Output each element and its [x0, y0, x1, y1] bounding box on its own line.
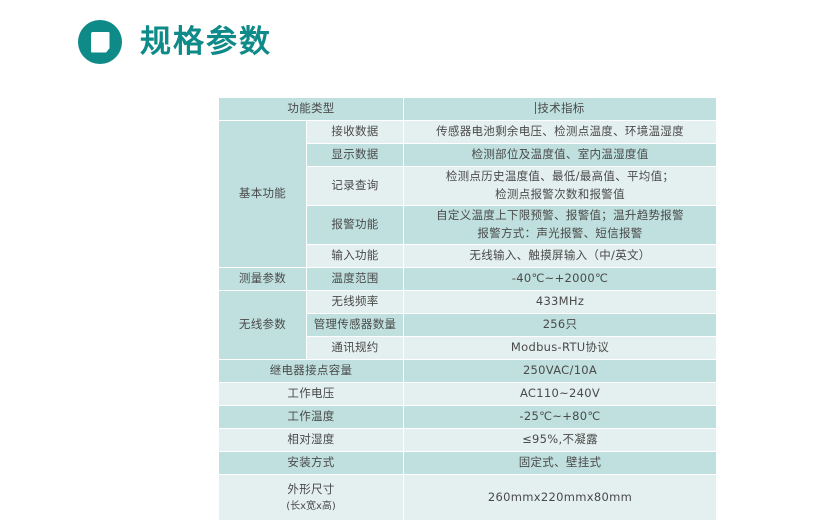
group-label-measure: 测量参数 — [219, 268, 307, 290]
row-value: 检测部位及温度值、室内温湿度值 — [404, 144, 716, 166]
row-item: 通讯规约 — [307, 337, 404, 359]
row-item: 安装方式 — [219, 452, 404, 474]
row-value: 自定义温度上下限预警、报警值；温升趋势报警 报警方式：声光报警、短信报警 — [404, 206, 716, 244]
row-item: 显示数据 — [307, 144, 404, 166]
row-value: 无线输入、触摸屏输入（中/英文） — [404, 245, 716, 267]
row-value: -25℃~+80℃ — [404, 406, 716, 428]
row-item: 相对湿度 — [219, 429, 404, 451]
row-value-line2: 报警方式：声光报警、短信报警 — [477, 226, 642, 240]
column-header-category: 功能类型 — [219, 98, 404, 120]
row-value-line2: 检测点报警次数和报警值 — [495, 187, 625, 201]
row-item: 工作温度 — [219, 406, 404, 428]
group-label-basic: 基本功能 — [219, 121, 307, 267]
row-value: -40℃~+2000℃ — [404, 268, 716, 290]
row-item: 记录查询 — [307, 167, 404, 205]
rounded-square-badge-icon — [78, 20, 122, 64]
page-title: 规格参数 — [140, 27, 272, 58]
row-item-label: 外形尺寸 — [287, 482, 334, 496]
spec-table-container: 功能类型 技术指标 基本功能 接收数据 传感器电池剩余电压、检测点温度、环境温湿… — [219, 97, 716, 521]
spec-table: 功能类型 技术指标 基本功能 接收数据 传感器电池剩余电压、检测点温度、环境温湿… — [219, 97, 716, 521]
column-header-spec-label: 技术指标 — [537, 101, 584, 115]
table-row: 工作温度 -25℃~+80℃ — [219, 406, 716, 428]
row-value: 250VAC/10A — [404, 360, 716, 382]
row-item: 报警功能 — [307, 206, 404, 244]
row-item: 继电器接点容量 — [219, 360, 404, 382]
group-label-wireless: 无线参数 — [219, 291, 307, 359]
table-row: 相对湿度 ≤95%,不凝露 — [219, 429, 716, 451]
row-value: 433MHz — [404, 291, 716, 313]
row-value: AC110~240V — [404, 383, 716, 405]
column-header-spec: 技术指标 — [404, 98, 716, 120]
row-value: Modbus-RTU协议 — [404, 337, 716, 359]
row-value: 固定式、壁挂式 — [404, 452, 716, 474]
row-value-line1: 检测点历史温度值、最低/最高值、平均值； — [446, 169, 674, 183]
table-row: 基本功能 接收数据 传感器电池剩余电压、检测点温度、环境温湿度 — [219, 121, 716, 143]
row-value-line1: 自定义温度上下限预警、报警值；温升趋势报警 — [436, 208, 684, 222]
page-header: 规格参数 — [78, 20, 272, 64]
table-row: 外形尺寸 (长x宽x高) 260mmx220mmx80mm — [219, 475, 716, 520]
row-value: 260mmx220mmx80mm — [404, 475, 716, 520]
table-row: 继电器接点容量 250VAC/10A — [219, 360, 716, 382]
row-item: 接收数据 — [307, 121, 404, 143]
row-item-sublabel: (长x宽x高) — [223, 499, 399, 515]
row-item: 温度范围 — [307, 268, 404, 290]
row-value: 检测点历史温度值、最低/最高值、平均值； 检测点报警次数和报警值 — [404, 167, 716, 205]
row-value: ≤95%,不凝露 — [404, 429, 716, 451]
row-item: 工作电压 — [219, 383, 404, 405]
badge-inner-shape — [91, 32, 110, 53]
row-item: 输入功能 — [307, 245, 404, 267]
row-item: 无线频率 — [307, 291, 404, 313]
row-value: 传感器电池剩余电压、检测点温度、环境温湿度 — [404, 121, 716, 143]
table-row: 工作电压 AC110~240V — [219, 383, 716, 405]
row-item: 外形尺寸 (长x宽x高) — [219, 475, 404, 520]
table-header-row: 功能类型 技术指标 — [219, 98, 716, 120]
table-row: 无线参数 无线频率 433MHz — [219, 291, 716, 313]
row-value: 256只 — [404, 314, 716, 336]
table-row: 安装方式 固定式、壁挂式 — [219, 452, 716, 474]
row-item: 管理传感器数量 — [307, 314, 404, 336]
table-row: 测量参数 温度范围 -40℃~+2000℃ — [219, 268, 716, 290]
